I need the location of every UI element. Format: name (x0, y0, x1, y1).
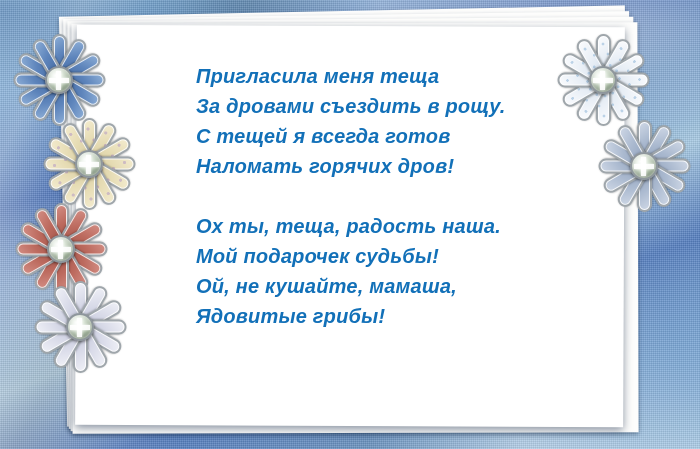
gem-center-icon (66, 313, 94, 341)
poem-line: Мой подарочек судьбы! (196, 242, 576, 272)
poem-line: Наломать горячих дров! (196, 152, 576, 182)
poem-line: Пригласила меня теща (196, 62, 576, 92)
poem-text: Пригласила меня теща За дровами съездить… (196, 62, 576, 332)
poem-line: С тещей я всегда готов (196, 122, 576, 152)
poem-line: Ядовитые грибы! (196, 302, 576, 332)
flower-steel-blue-icon (588, 110, 700, 222)
gem-center-icon (45, 66, 73, 94)
flower-lilac-icon (28, 275, 132, 379)
poem-line: За дровами съездить в рощу. (196, 92, 576, 122)
greeting-card-image: Пригласила меня теща За дровами съездить… (0, 0, 700, 449)
gem-center-icon (589, 66, 617, 94)
poem-stanza-1: Пригласила меня теща За дровами съездить… (196, 62, 576, 182)
gem-center-icon (47, 235, 75, 263)
gem-center-icon (630, 152, 658, 180)
poem-stanza-2: Ох ты, теща, радость наша. Мой подарочек… (196, 212, 576, 332)
poem-line: Ой, не кушайте, мамаша, (196, 272, 576, 302)
gem-center-icon (75, 150, 103, 178)
poem-line: Ох ты, теща, радость наша. (196, 212, 576, 242)
